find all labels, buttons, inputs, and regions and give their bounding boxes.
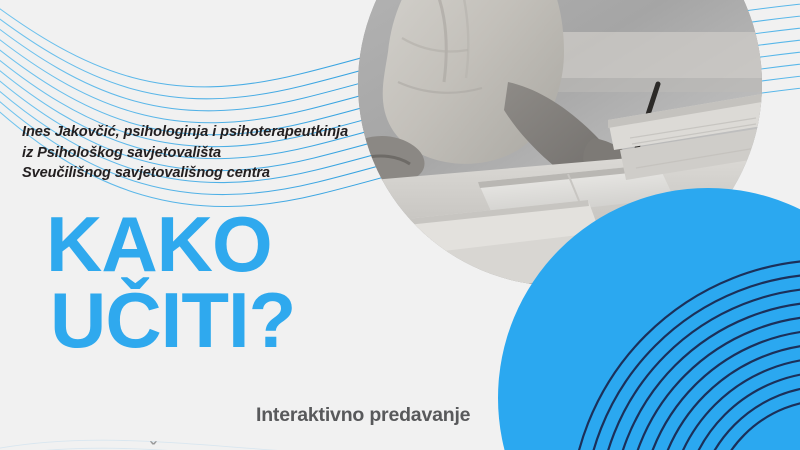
page-title: KAKO UČITI? [40, 206, 295, 358]
event-subtitle: Interaktivno predavanje [256, 404, 470, 427]
title-line-2: UČITI? [40, 282, 295, 358]
cut-off-text: ˇ [150, 440, 156, 450]
title-line-1: KAKO [40, 206, 295, 282]
speaker-line-3: Sveučilišnog savjetovališnog centra [22, 163, 382, 184]
blue-circle-shape [498, 188, 800, 450]
poster-canvas: Ines Jakovčić, psihologinja i psihoterap… [0, 0, 800, 450]
speaker-line-2: iz Psihološkog savjetovališta [22, 143, 382, 164]
concentric-arcs-decoration [498, 188, 800, 450]
speaker-line-1: Ines Jakovčić, psihologinja i psihoterap… [22, 122, 382, 143]
speaker-credit: Ines Jakovčić, psihologinja i psihoterap… [22, 122, 382, 184]
